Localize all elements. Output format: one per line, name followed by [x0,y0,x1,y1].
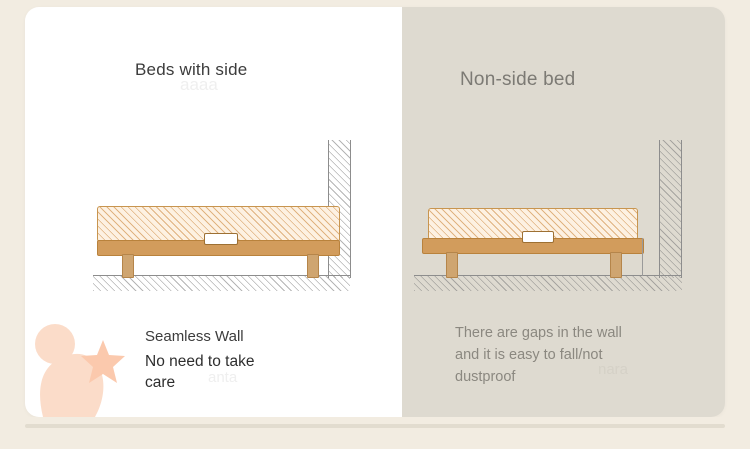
wall-outlet-icon [204,233,238,245]
floor-hatching [93,276,350,291]
left-caption-primary: Seamless Wall [145,327,244,347]
right-caption-ghost-text: nara [598,361,628,378]
left-caption-ghost-text: anta [208,369,237,386]
comparison-card: Beds with side aaaa Seamless Wall No nee… [25,7,725,417]
left-illustration [25,7,402,297]
floor-hatching [414,276,682,291]
right-caption: There are gaps in the wall and it is eas… [455,322,630,388]
wall-hatching [659,140,682,278]
bed-leg [307,254,319,278]
right-panel-non-side-bed: Non-side bed There are gaps in the wall … [402,7,725,417]
left-panel-beds-with-side: Beds with side aaaa Seamless Wall No nee… [25,7,402,417]
star-icon [81,340,125,383]
person-illustration [25,292,135,417]
person-body [40,354,103,417]
person-head [35,324,75,364]
wall-edge-line [659,140,660,278]
bottom-divider-strip [25,424,725,428]
right-illustration [402,7,725,297]
bed-leg [122,254,134,278]
wall-outer-line [350,140,351,278]
wall-outlet-icon [522,231,554,243]
wall-outer-line [681,140,682,278]
bed-leg [446,252,458,278]
page-bottom-background [0,417,750,449]
bed-leg [610,252,622,278]
gap-marker [642,238,643,276]
